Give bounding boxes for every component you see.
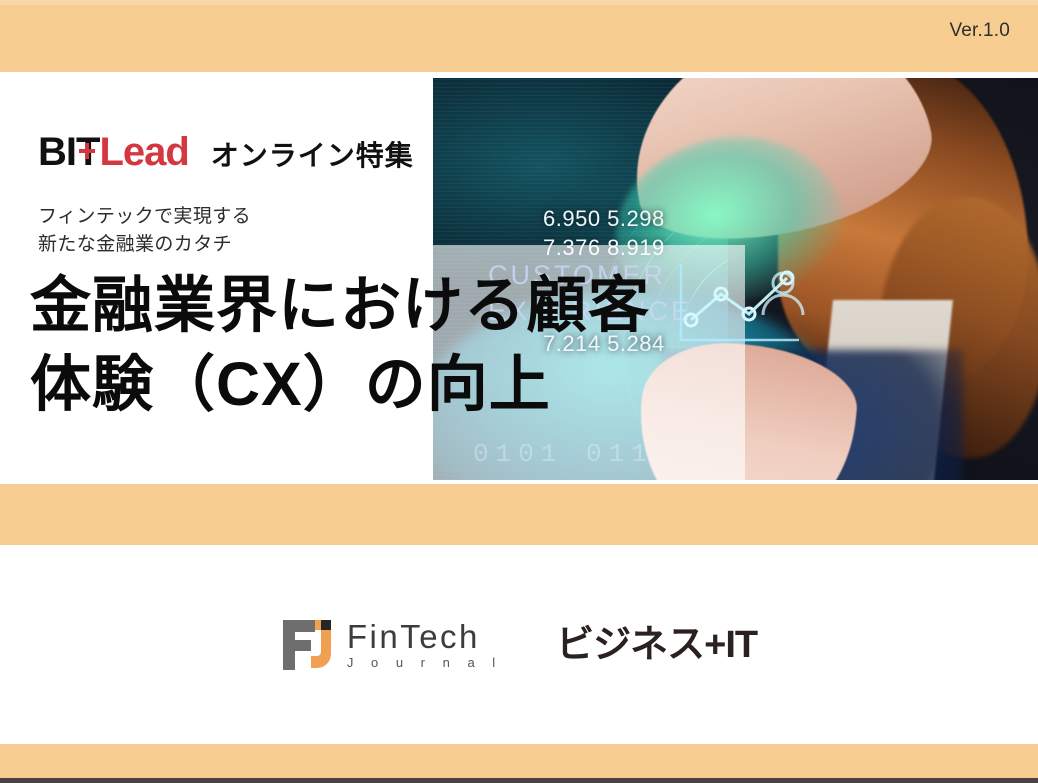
subtitle-line-1: フィンテックで実現する	[38, 203, 251, 231]
top-orange-band	[0, 5, 1038, 72]
page-title: 金融業界における顧客 体験（CX）の向上	[30, 266, 650, 425]
bottom-orange-band	[0, 744, 1038, 778]
bizit-logo: ビジネス+IT	[556, 626, 757, 664]
partner-logos: FinTech J o u r n a l ビジネス+IT	[0, 545, 1038, 744]
fintech-journal-logo: FinTech J o u r n a l	[281, 618, 502, 672]
bitlead-logo: BITLead	[38, 132, 189, 172]
fintech-journal-wordmark: FinTech J o u r n a l	[347, 620, 502, 669]
bottom-dark-strip	[0, 778, 1038, 783]
brand-lockup: BITLead オンライン特集	[38, 132, 414, 172]
subtitle-line-2: 新たな金融業のカタチ	[38, 231, 251, 259]
hero-subtitle: フィンテックで実現する 新たな金融業のカタチ	[38, 203, 251, 258]
user-profile-icon	[753, 263, 813, 323]
logo-lead-text: Lead	[99, 130, 188, 174]
photo-number-line-1: 6.950 5.298	[543, 205, 665, 234]
feature-label: オンライン特集	[211, 142, 414, 170]
bit-cross-vertical-icon	[85, 143, 89, 159]
fintech-name: FinTech	[347, 620, 502, 653]
fintech-journal-mark-icon	[281, 618, 333, 672]
fintech-subtitle: J o u r n a l	[347, 656, 502, 669]
middle-orange-band	[0, 484, 1038, 545]
version-label: Ver.1.0	[949, 20, 1010, 42]
